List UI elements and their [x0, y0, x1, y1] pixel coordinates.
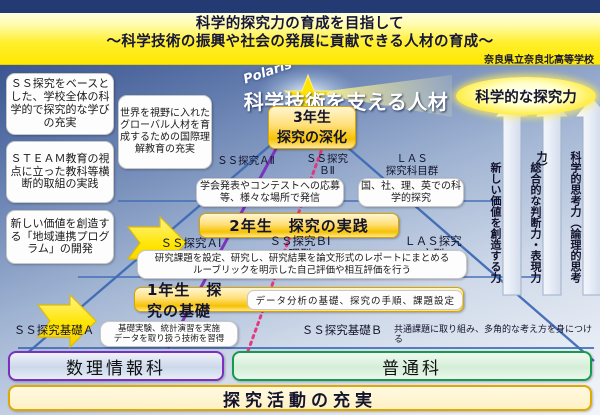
bottom-summary-bar: 探究活動の充実	[8, 385, 592, 411]
callout-global-education: 世界を視野に入れたグローバル人材を育成するための国際理解教育の充実	[118, 95, 212, 169]
course-label-kiso-a: ＳＳ探究基礎Ａ	[6, 324, 102, 337]
grade-pill-year1: 1年生 探究の基礎 データ分析の基礎、探究の手順、課題設定	[134, 287, 464, 312]
grade-year1-label: 1年生 探究の基礎	[147, 279, 233, 321]
vertical-arrow-new-value: 新しい価値を創造する力	[478, 117, 512, 295]
course-label-ss-a1: ＳＳ探究ＡⅠ	[136, 237, 246, 250]
note-kiso-b: 共通課題に取り組み、多角的な考え方を身につける	[394, 325, 600, 346]
page-title-line1: 科学的探究力の育成を目指して	[0, 15, 600, 33]
course-label-las-group: ＬＡＳ 探究科目群	[364, 153, 460, 177]
diagram-root: 科学的探究力の育成を目指して 〜科学技術の振興や社会の発展に貢献できる人材の育成…	[0, 0, 600, 415]
grade-year3-line2: 探究の深化	[277, 128, 347, 148]
diagram-stage: Polaris 科学技術を支える人材 科学的な探究力 ＳＳ探究をベースとした、学…	[0, 65, 600, 415]
vertical-arrow-scientific-thinking: 科学的思考力（論理的思考力）	[558, 117, 592, 295]
course-label-ss-a2: ＳＳ探究ＡⅡ	[200, 155, 292, 167]
note-kiso-a: 基礎実験、統計演習を実施 データを取り扱う技術を習得	[100, 321, 238, 347]
goal-ellipse: 科学的な探究力	[456, 77, 596, 115]
vertical-arrow-label-3: 科学的思考力（論理的思考力）	[558, 151, 592, 293]
note-rubric: 研究課題を設定、研究し、研究結果を論文形式のレポートにまとめる ルーブリックを明…	[137, 250, 467, 279]
vertical-arrow-label-1: 新しい価値を創造する力	[478, 151, 512, 293]
department-suuri-jouhou: 数理情報科	[8, 351, 224, 381]
grade-pill-year3: 3年生 探究の深化	[268, 106, 356, 149]
grade-year1-note: データ分析の基礎、探究の手順、課題設定	[247, 290, 463, 310]
top-navy-strip	[0, 0, 600, 13]
page-title-line2: 〜科学技術の振興や社会の発展に貢献できる人材の育成〜	[0, 33, 600, 51]
title-banner: 科学的探究力の育成を目指して 〜科学技術の振興や社会の発展に貢献できる人材の育成…	[0, 13, 600, 65]
callout-new-value: 新しい価値を創造する「地域連携プログラム」の開発	[6, 210, 114, 264]
course-label-ss-b2: ＳＳ探究 ＢⅡ	[296, 153, 358, 177]
grade-year3-line1: 3年生	[293, 108, 331, 128]
note-gakkai-happyou: 学会発表やコンテストへの応募等、様々な場所で発信	[196, 178, 344, 207]
note-kyouka-tankyuu: 国、社、理、英での科学的探究	[358, 178, 464, 207]
course-label-kiso-b: ＳＳ探究基礎Ｂ	[290, 324, 394, 337]
school-name: 奈良県立奈良北高等学校	[484, 51, 594, 66]
callout-ss-base: ＳＳ探究をベースとした、学校全体の科学的で探究的な学びの充実	[6, 73, 114, 135]
department-futsuu: 普通科	[232, 351, 592, 381]
callout-steam: ＳＴＥＡＭ教育の視点に立った教科等横断的取組の実践	[6, 141, 114, 203]
